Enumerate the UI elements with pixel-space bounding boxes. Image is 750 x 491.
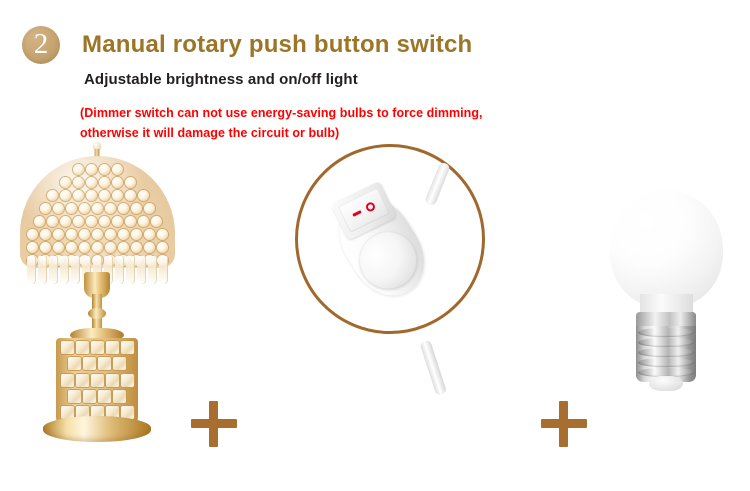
crystal-bead xyxy=(73,177,84,188)
bead-row xyxy=(20,229,175,240)
crystal-bead xyxy=(144,203,155,214)
crystal-prism xyxy=(126,256,135,284)
crystal-bead xyxy=(112,164,123,175)
crystal-bead xyxy=(66,242,77,253)
base-thread xyxy=(638,338,694,347)
crystal-bead xyxy=(40,203,51,214)
on-marking-icon xyxy=(352,210,361,216)
crystal-bead xyxy=(53,229,64,240)
crystal-column-base xyxy=(56,338,138,422)
crystal-cube xyxy=(121,341,134,354)
crystal-bead xyxy=(131,229,142,240)
crystal-prism xyxy=(148,256,157,284)
base-thread xyxy=(638,358,694,367)
crystal-prism xyxy=(27,256,36,284)
crystal-bead xyxy=(118,242,129,253)
off-marking-icon xyxy=(364,201,376,213)
crystal-bead xyxy=(112,177,123,188)
crystal-bead xyxy=(73,190,84,201)
crystal-cube xyxy=(83,390,96,403)
crystal-bead xyxy=(40,242,51,253)
crystal-bead xyxy=(79,229,90,240)
warning-note: (Dimmer switch can not use energy-saving… xyxy=(80,103,600,143)
infographic-page: 2 Manual rotary push button switch Adjus… xyxy=(0,0,750,491)
crystal-bead xyxy=(86,190,97,201)
crystal-bead xyxy=(40,229,51,240)
crystal-bead xyxy=(34,216,45,227)
crystal-bead xyxy=(86,177,97,188)
crystal-table-lamp-icon xyxy=(12,138,182,438)
crystal-cube xyxy=(61,374,74,387)
page-title: Manual rotary push button switch xyxy=(82,31,472,59)
crystal-bead xyxy=(105,242,116,253)
crystal-bead xyxy=(86,164,97,175)
crystal-bead xyxy=(86,216,97,227)
crystal-cube xyxy=(76,341,89,354)
inline-dimmer-switch-icon xyxy=(290,144,490,376)
crystal-cube xyxy=(106,374,119,387)
crystal-cube xyxy=(98,390,111,403)
crystal-bead xyxy=(27,242,38,253)
crystal-prism xyxy=(137,256,146,284)
crystal-cube xyxy=(106,341,119,354)
crystal-bead xyxy=(157,242,168,253)
crystal-bead xyxy=(73,216,84,227)
crystal-bead xyxy=(99,216,110,227)
bead-row xyxy=(20,203,175,214)
crystal-bead xyxy=(66,203,77,214)
crystal-cube xyxy=(121,374,134,387)
bead-row xyxy=(20,177,175,188)
base-thread xyxy=(638,328,694,337)
bulb-glass-globe xyxy=(610,190,723,308)
crystal-cube-row xyxy=(59,374,135,387)
crystal-bead xyxy=(144,229,155,240)
crystal-bead xyxy=(92,242,103,253)
crystal-bead xyxy=(144,242,155,253)
crystal-prism xyxy=(159,256,168,284)
power-cord-lower xyxy=(419,339,447,396)
crystal-bead xyxy=(105,229,116,240)
crystal-bead xyxy=(53,203,64,214)
header: 2 Manual rotary push button switch xyxy=(22,26,472,64)
crystal-prism xyxy=(38,256,47,284)
crystal-prism xyxy=(71,256,80,284)
crystal-cube xyxy=(76,374,89,387)
crystal-cube-row xyxy=(59,357,135,370)
crystal-cube xyxy=(91,374,104,387)
warning-line-1: (Dimmer switch can not use energy-saving… xyxy=(80,103,600,123)
crystal-bead xyxy=(125,216,136,227)
base-contact-tip xyxy=(649,376,683,391)
bead-row xyxy=(20,164,175,175)
crystal-bead xyxy=(92,203,103,214)
crystal-bead xyxy=(112,190,123,201)
crystal-bead xyxy=(138,216,149,227)
crystal-bead xyxy=(131,203,142,214)
crystal-bead xyxy=(138,190,149,201)
bead-row xyxy=(20,216,175,227)
subtitle: Adjustable brightness and on/off light xyxy=(84,71,358,88)
plus-sign xyxy=(191,401,237,447)
crystal-bead xyxy=(73,164,84,175)
crystal-prism xyxy=(60,256,69,284)
step-number-badge: 2 xyxy=(22,26,60,64)
crystal-bead xyxy=(60,190,71,201)
crystal-cube xyxy=(68,390,81,403)
crystal-cube xyxy=(98,357,111,370)
crystal-bead xyxy=(118,203,129,214)
base-collar xyxy=(636,312,696,326)
crystal-bead xyxy=(60,216,71,227)
crystal-bead xyxy=(99,177,110,188)
crystal-bead xyxy=(112,216,123,227)
crystal-bead xyxy=(47,216,58,227)
crystal-bead xyxy=(105,203,116,214)
crystal-bead xyxy=(79,203,90,214)
crystal-bead xyxy=(131,242,142,253)
crystal-bead xyxy=(99,164,110,175)
lamp-base-foot xyxy=(43,416,151,442)
bead-row xyxy=(20,242,175,253)
crystal-bead xyxy=(27,229,38,240)
crystal-bead xyxy=(79,242,90,253)
crystal-bead xyxy=(157,229,168,240)
crystal-cube-row xyxy=(59,390,135,403)
crystal-cube xyxy=(113,357,126,370)
crystal-cube xyxy=(91,341,104,354)
bulb-screw-base xyxy=(636,312,696,382)
plus-sign xyxy=(541,401,587,447)
base-thread xyxy=(638,348,694,357)
crystal-bead xyxy=(60,177,71,188)
crystal-bead xyxy=(99,190,110,201)
crystal-bead xyxy=(125,177,136,188)
bead-row xyxy=(20,190,175,201)
crystal-cube xyxy=(113,390,126,403)
crystal-bead xyxy=(151,216,162,227)
product-row: Lamp body Dimmer switch Incandescent bul… xyxy=(0,138,750,438)
lamp-stem-knot xyxy=(88,308,106,319)
crystal-bead xyxy=(47,190,58,201)
crystal-bead xyxy=(53,242,64,253)
crystal-cube xyxy=(61,341,74,354)
crystal-bead xyxy=(118,229,129,240)
crystal-bead xyxy=(92,229,103,240)
crystal-cube xyxy=(83,357,96,370)
crystal-bead xyxy=(125,190,136,201)
lamp-shade-dome xyxy=(20,156,175,268)
crystal-prism xyxy=(49,256,58,284)
crystal-bead xyxy=(66,229,77,240)
crystal-cube xyxy=(68,357,81,370)
crystal-cube-row xyxy=(59,341,135,354)
globe-bulb-e27-icon xyxy=(596,190,736,430)
crystal-prism xyxy=(115,256,124,284)
